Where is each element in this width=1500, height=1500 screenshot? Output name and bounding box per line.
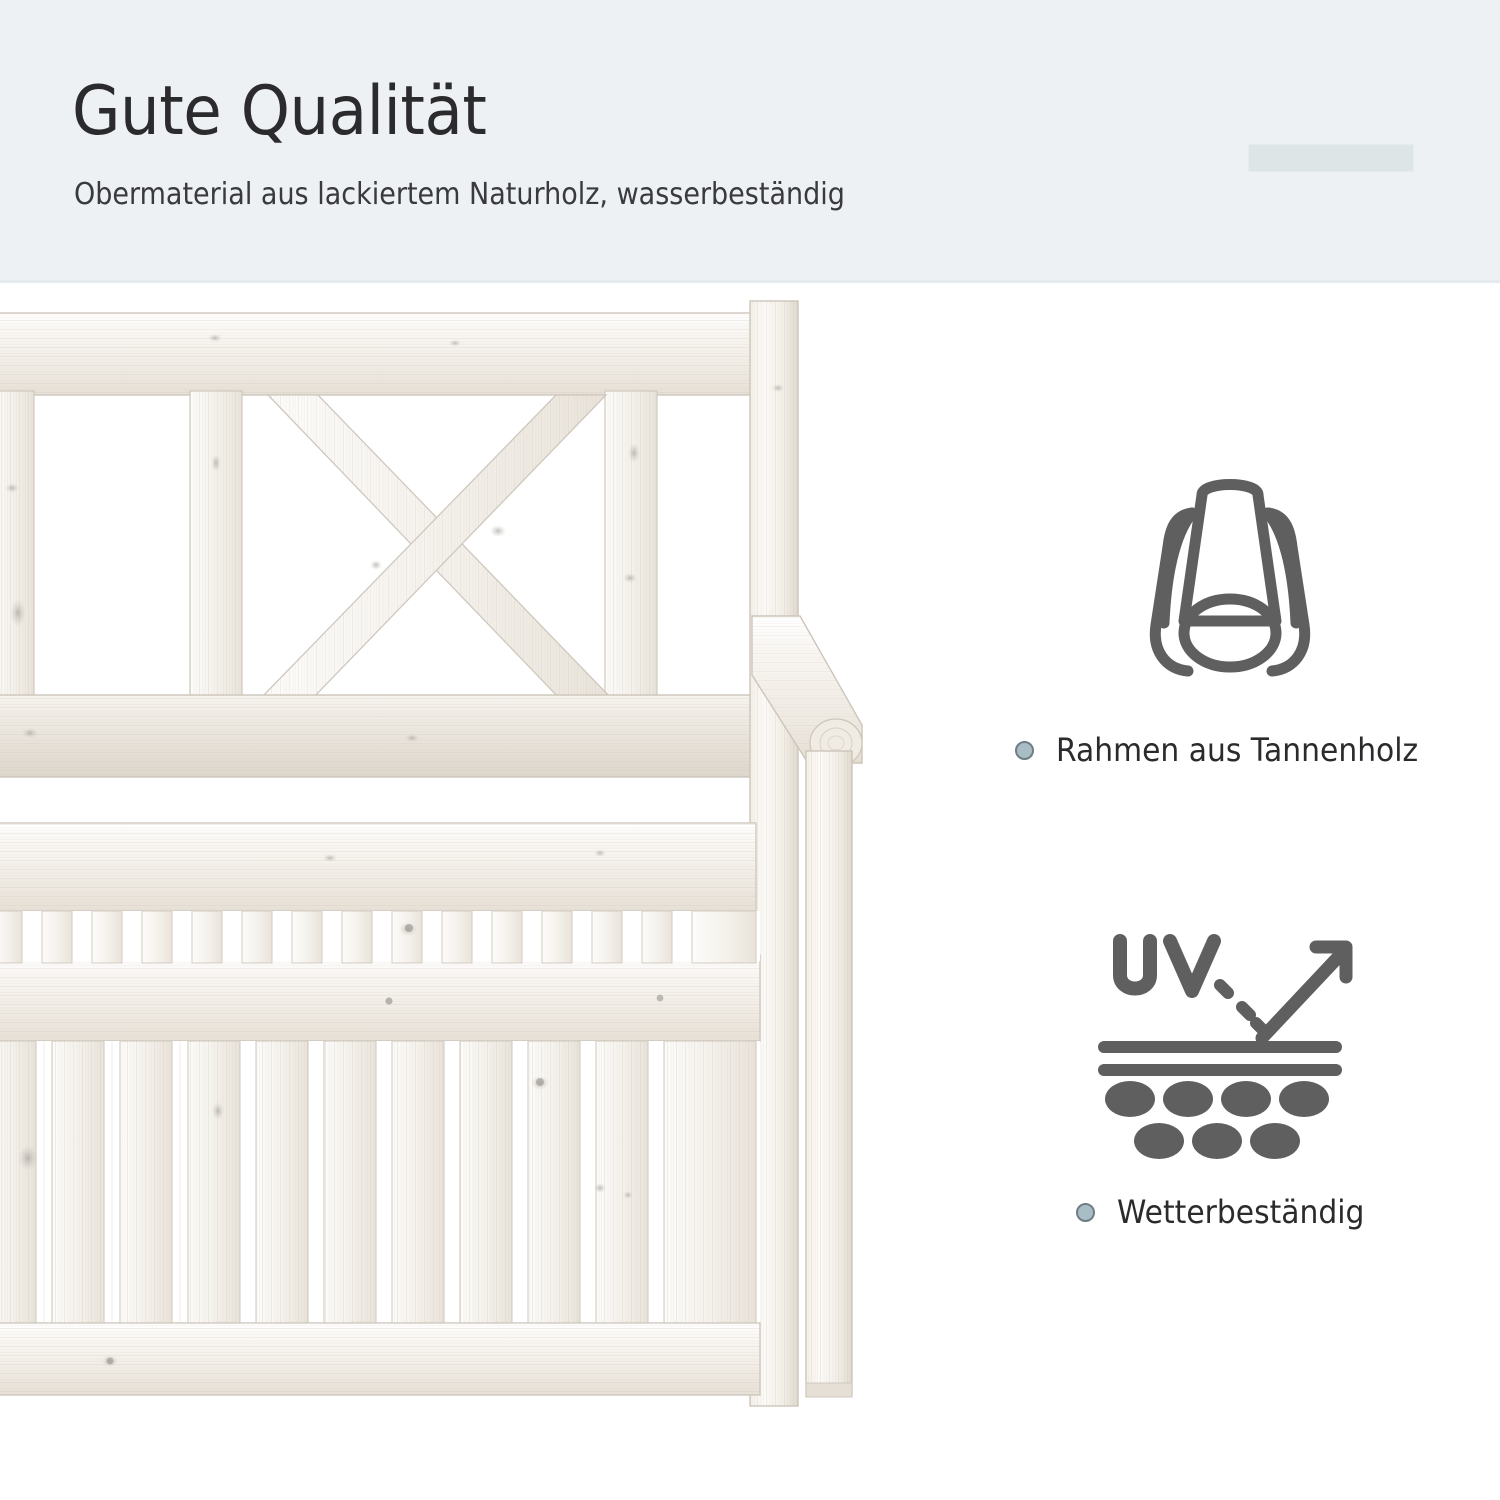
feature-text-frame-material: Rahmen aus Tannenholz <box>1056 731 1418 769</box>
bench-backrest-bottom-rail <box>0 695 760 777</box>
uv-weather-resistant-icon-wrap <box>960 913 1500 1168</box>
bench-seat-front-rail <box>0 955 760 1041</box>
feature-list: Rahmen aus Tannenholz <box>960 283 1500 1500</box>
product-photo <box>0 283 960 1500</box>
feature-label-frame-material: Rahmen aus Tannenholz <box>960 731 1500 769</box>
page-title: Gute Qualität <box>72 78 486 146</box>
uv-weather-resistant-icon <box>1080 913 1380 1163</box>
bullet-icon <box>1076 1203 1095 1222</box>
bench-backrest-x-brace <box>260 395 612 699</box>
bench-bottom-rail <box>0 1323 760 1395</box>
bench-seat-back-rail <box>0 823 756 911</box>
bench-storage-box-slats <box>0 1041 760 1341</box>
page-subtitle: Obermaterial aus lackiertem Naturholz, w… <box>74 180 845 210</box>
bench-backrest-top-rail <box>0 313 760 395</box>
bullet-icon <box>1015 741 1034 760</box>
header-band: Gute Qualität Obermaterial aus lackierte… <box>0 0 1500 283</box>
bench-picket-row <box>0 911 760 963</box>
timber-logs-icon <box>1130 473 1330 688</box>
product-feature-page: Gute Qualität Obermaterial aus lackierte… <box>0 0 1500 1500</box>
feature-label-weather-resistant: Wetterbeständig <box>960 1193 1500 1231</box>
bench-leg-foot <box>806 1383 852 1397</box>
bench-illustration <box>0 283 960 1500</box>
feature-text-weather-resistant: Wetterbeständig <box>1117 1193 1364 1231</box>
bench-front-post <box>806 751 852 1396</box>
timber-logs-icon-wrap <box>960 473 1500 693</box>
header-accent-bar <box>1248 144 1414 172</box>
